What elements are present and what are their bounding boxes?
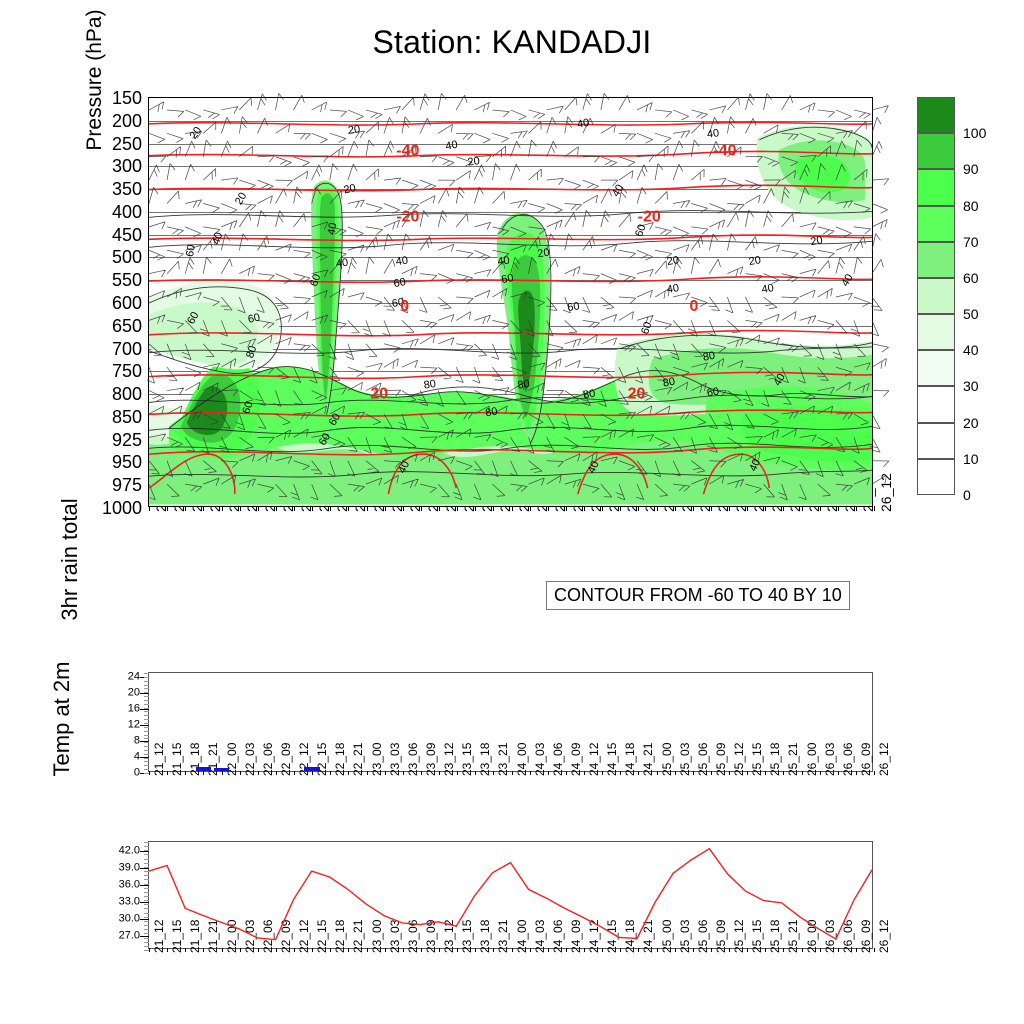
- small-xtick-mark: [149, 948, 150, 952]
- small-xtick-mark: [693, 948, 694, 952]
- small-xtick-mark: [475, 771, 476, 775]
- small-xtick-mark: [566, 771, 567, 775]
- rain-bar: [196, 767, 211, 771]
- small-xtick-mark: [802, 771, 803, 775]
- svg-text:-40: -40: [713, 143, 736, 160]
- sounding-xtick-mark: [820, 506, 821, 511]
- small-xtick-label: 23_06: [407, 743, 419, 776]
- colorbar-tick-label: 40: [963, 342, 979, 358]
- sounding-ylabel: Pressure (hPa): [83, 0, 107, 190]
- small-xtick-label: 25_21: [787, 743, 799, 776]
- sounding-xtick-mark: [240, 506, 241, 511]
- colorbar-tick-label: 60: [963, 270, 979, 286]
- small-ytick-minor: [144, 700, 149, 701]
- sounding-field: 20 20 40 20 40 40 20 20 40 40 40 60 60 4…: [149, 98, 872, 506]
- sounding-ytick-label: 150: [112, 89, 142, 107]
- colorbar-cell: [917, 423, 955, 459]
- small-ytick-label: 27.0: [119, 930, 140, 941]
- colorbar-cell: [917, 459, 955, 495]
- sounding-xtick-mark: [747, 506, 748, 511]
- small-ytick-label: 39.0: [119, 862, 140, 873]
- sounding-xtick-mark: [620, 506, 621, 511]
- small-xtick-mark: [167, 771, 168, 775]
- small-xtick-label: 24_15: [606, 743, 618, 776]
- sounding-xtick-mark: [711, 506, 712, 511]
- sounding-xtick-mark: [548, 506, 549, 511]
- small-ytick-mark: [140, 919, 149, 920]
- small-xtick-mark: [548, 771, 549, 775]
- small-xtick-label: 25_18: [769, 743, 781, 776]
- small-xtick-mark: [512, 771, 513, 775]
- sounding-xtick-mark: [222, 506, 223, 511]
- sounding-ytick-label: 975: [112, 476, 142, 494]
- small-xtick-mark: [475, 948, 476, 952]
- small-xtick-mark: [675, 771, 676, 775]
- sounding-xtick-mark: [512, 506, 513, 511]
- small-ytick-minor: [144, 742, 149, 743]
- colorbar-tick-label: 80: [963, 198, 979, 214]
- small-xtick-label: 25_09: [715, 743, 727, 776]
- small-xtick-mark: [783, 771, 784, 775]
- svg-text:60: 60: [393, 276, 407, 290]
- small-ytick-mark: [140, 902, 149, 903]
- small-xtick-mark: [258, 948, 259, 952]
- sounding-xtick-mark: [638, 506, 639, 511]
- sounding-xtick-mark: [294, 506, 295, 511]
- small-xtick-mark: [820, 948, 821, 952]
- small-xtick-mark: [548, 948, 549, 952]
- sounding-xtick-mark: [693, 506, 694, 511]
- sounding-xtick-mark: [874, 506, 875, 511]
- svg-text:80: 80: [662, 376, 676, 390]
- small-xtick-mark: [729, 948, 730, 952]
- small-xtick-mark: [457, 771, 458, 775]
- small-xtick-mark: [439, 948, 440, 952]
- sounding-xtick-mark: [276, 506, 277, 511]
- sounding-ytick-label: 650: [112, 317, 142, 335]
- small-ytick-minor: [144, 738, 149, 739]
- small-ytick-minor: [144, 754, 149, 755]
- small-ytick-minor: [144, 708, 149, 709]
- svg-text:60: 60: [567, 300, 581, 314]
- small-xtick-label: 22_21: [352, 743, 364, 776]
- small-xtick-label: 23_21: [497, 743, 509, 776]
- small-xtick-label: 23_00: [371, 743, 383, 776]
- small-xtick-mark: [385, 771, 386, 775]
- small-xtick-label: 24_03: [534, 743, 546, 776]
- small-ytick-minor: [144, 735, 149, 736]
- sounding-ytick-label: 350: [112, 180, 142, 198]
- svg-text:20: 20: [748, 254, 762, 268]
- small-xtick-mark: [657, 948, 658, 952]
- small-ytick-minor: [144, 677, 149, 678]
- svg-text:40: 40: [335, 257, 349, 271]
- colorbar-tick-label: 70: [963, 234, 979, 250]
- small-ytick-minor: [144, 696, 149, 697]
- small-xtick-label: 23_12: [443, 743, 455, 776]
- svg-text:20: 20: [467, 155, 481, 169]
- small-xtick-mark: [312, 771, 313, 775]
- small-ytick-label: 24: [128, 672, 140, 683]
- sounding-xtick-mark: [330, 506, 331, 511]
- svg-text:80: 80: [423, 378, 437, 392]
- colorbar-cell: [917, 314, 955, 350]
- small-xtick-mark: [421, 948, 422, 952]
- small-xtick-mark: [439, 771, 440, 775]
- small-xtick-mark: [620, 948, 621, 952]
- small-ytick-minor: [144, 761, 149, 762]
- small-xtick-mark: [330, 948, 331, 952]
- small-xtick-mark: [512, 948, 513, 952]
- sounding-xtick-mark: [602, 506, 603, 511]
- small-xtick-label: 24_06: [552, 743, 564, 776]
- small-ytick-minor: [144, 758, 149, 759]
- humidity-colorbar: 1009080706050403020100: [917, 97, 955, 495]
- small-xtick-mark: [185, 948, 186, 952]
- small-xtick-label: 26_09: [860, 743, 872, 776]
- small-xtick-mark: [294, 948, 295, 952]
- colorbar-tick-label: 20: [963, 415, 979, 431]
- small-ytick-label: 33.0: [119, 896, 140, 907]
- small-xtick-mark: [820, 771, 821, 775]
- small-xtick-mark: [367, 948, 368, 952]
- sounding-xtick-mark: [457, 506, 458, 511]
- sounding-ytick-label: 850: [112, 408, 142, 426]
- svg-text:40: 40: [576, 117, 590, 131]
- temperature-panel: Temp at 2m 27.030.033.036.039.042.0 21_1…: [148, 841, 873, 949]
- sounding-xtick-mark: [167, 506, 168, 511]
- small-xtick-mark: [294, 771, 295, 775]
- svg-text:-40: -40: [396, 143, 419, 160]
- svg-text:60: 60: [184, 244, 198, 258]
- small-ytick-minor: [144, 704, 149, 705]
- colorbar-tick-label: 90: [963, 161, 979, 177]
- svg-text:20: 20: [628, 386, 646, 403]
- sounding-xtick-mark: [530, 506, 531, 511]
- small-xtick-label: 22_09: [280, 743, 292, 776]
- svg-text:-20: -20: [638, 208, 661, 225]
- small-xtick-label: 25_12: [733, 743, 745, 776]
- small-xtick-label: 21_12: [153, 743, 165, 776]
- sounding-ytick-label: 600: [112, 294, 142, 312]
- small-xtick-mark: [602, 771, 603, 775]
- small-xtick-mark: [838, 948, 839, 952]
- small-xtick-mark: [493, 771, 494, 775]
- small-xtick-mark: [657, 771, 658, 775]
- small-xtick-mark: [421, 771, 422, 775]
- svg-text:80: 80: [485, 405, 499, 419]
- small-xtick-mark: [747, 948, 748, 952]
- small-ytick-minor: [144, 719, 149, 720]
- sounding-xtick-mark: [566, 506, 567, 511]
- small-xtick-label: 22_18: [334, 743, 346, 776]
- small-ytick-minor: [144, 711, 149, 712]
- svg-text:20: 20: [347, 123, 361, 137]
- small-xtick-mark: [856, 948, 857, 952]
- svg-text:60: 60: [500, 272, 514, 286]
- colorbar-cell: [917, 242, 955, 278]
- sounding-xtick-mark: [312, 506, 313, 511]
- svg-text:80: 80: [702, 350, 716, 364]
- small-xtick-mark: [693, 771, 694, 775]
- small-xtick-mark: [185, 771, 186, 775]
- svg-text:40: 40: [497, 255, 511, 269]
- sounding-xtick-mark: [439, 506, 440, 511]
- small-xtick-mark: [403, 771, 404, 775]
- svg-text:20: 20: [370, 386, 388, 403]
- svg-text:60: 60: [706, 386, 720, 400]
- sounding-xtick-mark: [403, 506, 404, 511]
- page-title: Station: KANDADJI: [0, 24, 1024, 61]
- rain-bar: [214, 768, 229, 771]
- small-ytick-minor: [144, 688, 149, 689]
- small-xtick-mark: [874, 771, 875, 775]
- small-xtick-mark: [765, 771, 766, 775]
- small-xtick-mark: [584, 771, 585, 775]
- svg-text:20: 20: [666, 254, 680, 268]
- sounding-ytick-label: 500: [112, 248, 142, 266]
- sounding-xtick-mark: [348, 506, 349, 511]
- small-ytick-label: 12: [128, 720, 140, 731]
- small-ytick-minor: [144, 746, 149, 747]
- figure-root: Station: KANDADJI Pressure (hPa) 1502002…: [0, 0, 1024, 1024]
- colorbar-cell: [917, 206, 955, 242]
- small-ytick-label: 20: [128, 688, 140, 699]
- small-xtick-mark: [167, 948, 168, 952]
- small-ytick-minor: [144, 685, 149, 686]
- small-xtick-label: 25_15: [751, 743, 763, 776]
- svg-text:-20: -20: [396, 208, 419, 225]
- sounding-xtick-mark: [493, 506, 494, 511]
- small-xtick-label: 26_06: [842, 743, 854, 776]
- small-xtick-mark: [276, 771, 277, 775]
- small-xtick-mark: [367, 771, 368, 775]
- small-xtick-mark: [312, 948, 313, 952]
- colorbar-tick-label: 0: [963, 487, 971, 503]
- small-xtick-label: 24_09: [570, 743, 582, 776]
- small-ytick-mark: [140, 725, 149, 726]
- svg-text:40: 40: [666, 282, 680, 296]
- sounding-xtick-mark: [802, 506, 803, 511]
- colorbar-cell: [917, 169, 955, 205]
- sounding-xtick-mark: [729, 506, 730, 511]
- small-xtick-mark: [493, 948, 494, 952]
- small-xtick-label: 21_15: [171, 743, 183, 776]
- small-xtick-mark: [457, 948, 458, 952]
- sounding-xtick-mark: [657, 506, 658, 511]
- small-xtick-mark: [385, 948, 386, 952]
- small-xtick-mark: [530, 948, 531, 952]
- sounding-xtick-mark: [838, 506, 839, 511]
- svg-text:40: 40: [395, 255, 409, 269]
- small-xtick-label: 23_15: [461, 743, 473, 776]
- small-xtick-mark: [403, 948, 404, 952]
- small-ytick-mark: [140, 709, 149, 710]
- sounding-panel: Pressure (hPa) 1502002503003504004505005…: [148, 97, 873, 507]
- colorbar-tick-label: 30: [963, 378, 979, 394]
- small-ytick-label: 16: [128, 704, 140, 715]
- small-xtick-mark: [747, 771, 748, 775]
- colorbar-tick-label: 10: [963, 451, 979, 467]
- sounding-ytick-label: 800: [112, 385, 142, 403]
- small-ytick-minor: [144, 673, 149, 674]
- sounding-xtick-mark: [258, 506, 259, 511]
- small-ytick-minor: [144, 715, 149, 716]
- small-ytick-minor: [144, 731, 149, 732]
- small-xtick-mark: [856, 771, 857, 775]
- small-ytick-label: 42.0: [119, 845, 140, 856]
- colorbar-cell: [917, 386, 955, 422]
- svg-text:40: 40: [610, 182, 626, 199]
- svg-text:20: 20: [343, 182, 357, 196]
- sounding-ytick-label: 950: [112, 453, 142, 471]
- sounding-ytick-label: 300: [112, 157, 142, 175]
- small-xtick-mark: [620, 771, 621, 775]
- sounding-xtick-mark: [765, 506, 766, 511]
- small-xtick-label: 26_00: [806, 743, 818, 776]
- rain-panel: 3hr rain total 04812162024 21_1221_1521_…: [148, 672, 873, 772]
- small-xtick-mark: [348, 771, 349, 775]
- sounding-ytick-label: 450: [112, 226, 142, 244]
- small-xtick-mark: [258, 771, 259, 775]
- small-xtick-mark: [222, 771, 223, 775]
- colorbar-cell: [917, 278, 955, 314]
- svg-text:40: 40: [326, 222, 340, 236]
- small-xtick-mark: [729, 771, 730, 775]
- sounding-xtick-mark: [783, 506, 784, 511]
- svg-text:40: 40: [445, 139, 459, 153]
- sounding-xtick-mark: [185, 506, 186, 511]
- svg-text:20: 20: [810, 234, 824, 248]
- sounding-xtick-mark: [149, 506, 150, 511]
- small-xtick-label: 25_06: [697, 743, 709, 776]
- svg-text:40: 40: [839, 272, 855, 289]
- svg-text:0: 0: [690, 298, 699, 315]
- small-ytick-minor: [144, 765, 149, 766]
- svg-text:40: 40: [761, 282, 775, 296]
- sounding-xtick-mark: [584, 506, 585, 511]
- small-xtick-mark: [240, 948, 241, 952]
- sounding-xtick-mark: [367, 506, 368, 511]
- small-xtick-mark: [783, 948, 784, 952]
- small-xtick-label: 26_12: [878, 743, 890, 776]
- small-xtick-mark: [584, 948, 585, 952]
- small-xtick-mark: [711, 948, 712, 952]
- colorbar-cell: [917, 97, 955, 133]
- small-xtick-label: 26_03: [824, 743, 836, 776]
- small-xtick-label: 26_12: [878, 920, 890, 953]
- sounding-xtick-mark: [203, 506, 204, 511]
- rain-bar: [304, 767, 319, 771]
- colorbar-tick-label: 50: [963, 306, 979, 322]
- small-xtick-mark: [276, 948, 277, 952]
- svg-text:20: 20: [187, 125, 204, 142]
- small-ytick-minor: [144, 750, 149, 751]
- small-ytick-minor: [144, 727, 149, 728]
- small-xtick-mark: [222, 948, 223, 952]
- sounding-ytick-label: 250: [112, 135, 142, 153]
- small-ytick-mark: [140, 885, 149, 886]
- small-xtick-mark: [675, 948, 676, 952]
- small-xtick-mark: [765, 948, 766, 952]
- small-xtick-label: 24_21: [642, 743, 654, 776]
- small-xtick-label: 22_03: [244, 743, 256, 776]
- sounding-ytick-label: 1000: [102, 499, 142, 517]
- sounding-xtick-mark: [475, 506, 476, 511]
- small-xtick-label: 24_00: [516, 743, 528, 776]
- small-xtick-label: 23_18: [479, 743, 491, 776]
- small-xtick-mark: [711, 771, 712, 775]
- small-xtick-mark: [203, 771, 204, 775]
- sounding-xtick-mark: [385, 506, 386, 511]
- sounding-xtick-mark: [421, 506, 422, 511]
- small-xtick-label: 25_03: [679, 743, 691, 776]
- small-ytick-minor: [144, 681, 149, 682]
- small-xtick-mark: [638, 948, 639, 952]
- contour-caption: CONTOUR FROM -60 TO 40 BY 10: [546, 581, 850, 610]
- svg-text:0: 0: [400, 298, 409, 315]
- small-xtick-mark: [802, 948, 803, 952]
- sounding-ytick-label: 200: [112, 112, 142, 130]
- small-xtick-mark: [149, 771, 150, 775]
- small-xtick-mark: [838, 771, 839, 775]
- small-xtick-label: 25_00: [661, 743, 673, 776]
- small-xtick-mark: [566, 948, 567, 952]
- sounding-xtick-mark: [675, 506, 676, 511]
- colorbar-cell: [917, 133, 955, 169]
- svg-text:80: 80: [582, 388, 596, 402]
- svg-text:60: 60: [247, 312, 261, 326]
- small-xtick-mark: [638, 771, 639, 775]
- sounding-xtick-mark: [856, 506, 857, 511]
- svg-text:80: 80: [517, 378, 531, 392]
- temp-ylabel: Temp at 2m: [49, 604, 75, 834]
- small-xtick-mark: [330, 771, 331, 775]
- small-xtick-label: 23_09: [425, 743, 437, 776]
- colorbar-cell: [917, 350, 955, 386]
- svg-text:40: 40: [706, 127, 720, 141]
- small-xtick-label: 22_06: [262, 743, 274, 776]
- small-ytick-minor: [144, 769, 149, 770]
- sounding-ytick-label: 700: [112, 340, 142, 358]
- colorbar-tick-label: 100: [963, 125, 986, 141]
- small-ytick-minor: [144, 692, 149, 693]
- svg-text:20: 20: [537, 247, 551, 261]
- sounding-ytick-label: 750: [112, 362, 142, 380]
- small-xtick-mark: [530, 771, 531, 775]
- small-xtick-label: 23_03: [389, 743, 401, 776]
- sounding-ytick-label: 550: [112, 271, 142, 289]
- small-xtick-mark: [240, 771, 241, 775]
- small-xtick-mark: [874, 948, 875, 952]
- sounding-ytick-label: 400: [112, 203, 142, 221]
- small-ytick-label: 36.0: [119, 879, 140, 890]
- small-ytick-minor: [144, 723, 149, 724]
- small-xtick-mark: [348, 948, 349, 952]
- small-xtick-mark: [602, 948, 603, 952]
- sounding-ytick-label: 925: [112, 431, 142, 449]
- small-xtick-label: 24_12: [588, 743, 600, 776]
- small-xtick-mark: [203, 948, 204, 952]
- small-xtick-label: 24_18: [624, 743, 636, 776]
- temp-series: [149, 842, 872, 948]
- small-ytick-label: 30.0: [119, 913, 140, 924]
